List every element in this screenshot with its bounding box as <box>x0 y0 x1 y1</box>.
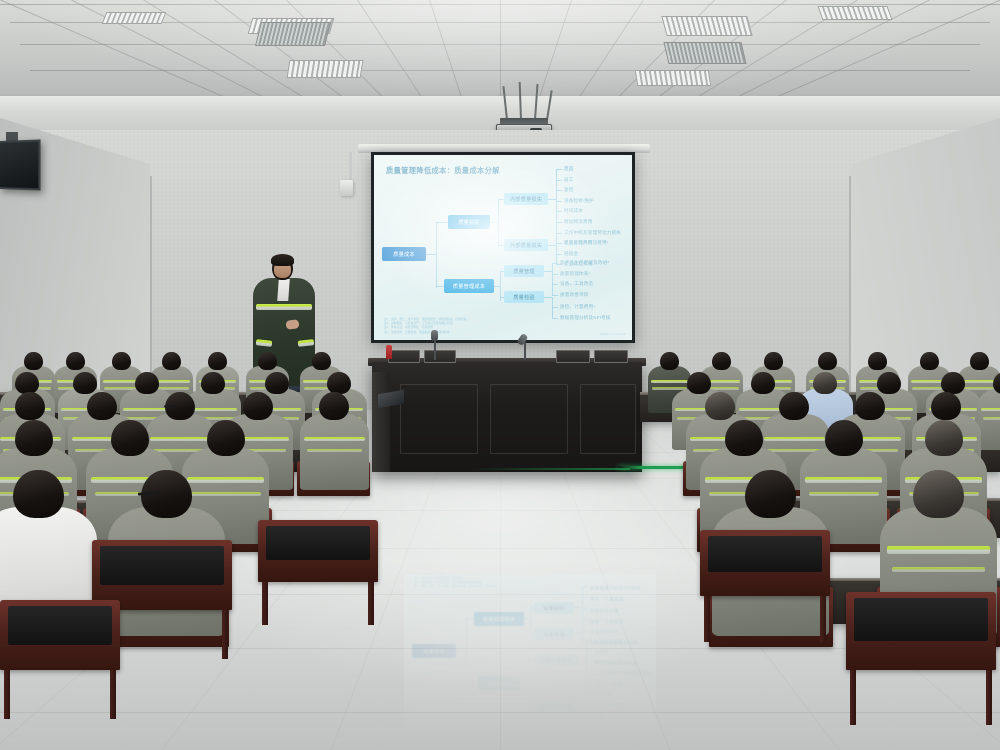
mindmap-node-quality-loss: 质量损失 <box>478 676 520 690</box>
audience-member-head <box>162 352 181 370</box>
desk-nameplate <box>556 350 590 363</box>
desk-nameplate <box>594 350 628 363</box>
ceiling-light-panel <box>287 60 364 78</box>
chair-seat <box>854 598 988 641</box>
mindmap-leaf: 废品 <box>564 166 574 172</box>
screen-power-cable <box>349 152 352 182</box>
mindmap-leaf: 质量改善项目 <box>560 292 588 298</box>
audience-member-head <box>751 372 775 394</box>
audience-member-head <box>243 392 273 420</box>
audience-member-head <box>913 470 964 518</box>
mindmap-node-quality-inspection: 质量检验 <box>534 602 574 614</box>
chair-seat <box>8 606 112 645</box>
slide-title: 质量管理降低成本：质量成本分解 <box>386 166 500 176</box>
reflective-stripe <box>981 408 1000 412</box>
reflective-stripe <box>307 449 362 452</box>
mindmap-node-quality-inspection: 质量检验 <box>504 291 544 303</box>
mindmap-leaf: 复检 <box>594 712 604 718</box>
reflective-stripe <box>191 492 261 496</box>
reflective-stripe <box>887 546 990 554</box>
ceiling-vent <box>255 22 331 46</box>
chair-leg <box>368 582 374 625</box>
audience-member-head <box>825 420 863 456</box>
presenter-hair <box>271 254 294 266</box>
desk-panel <box>580 384 636 454</box>
mindmap-leaf: 工作中断及管理劳动力损失 <box>564 230 621 236</box>
audience-member-head <box>312 352 331 370</box>
mindmap-node-internal-loss: 内部质量损失 <box>504 193 548 205</box>
audience-member-head <box>970 352 989 370</box>
audience-member-head <box>877 372 901 394</box>
mindmap-leaf: 返工 <box>594 722 604 728</box>
audience-member-head <box>931 392 961 420</box>
chair-leg <box>704 596 710 642</box>
audience-member-head <box>207 420 245 456</box>
reflective-stripe <box>189 408 237 412</box>
desk-panel <box>490 384 568 454</box>
projection-screen: 质量管理降低成本：质量成本分解 质量成本 质量损失 质量管理成本 内部质量损失 … <box>374 155 632 340</box>
mindmap-node-quality-management: 质量管理 <box>504 265 544 277</box>
chair-leg <box>110 670 116 719</box>
mindmap-leaf: 质检、计量费用⁴ <box>560 304 595 310</box>
mindmap-leaf: 退货及客户抱怨费用¹ <box>594 659 638 665</box>
audience-member-head <box>712 352 731 370</box>
chair-seat <box>708 536 822 572</box>
reflective-stripe <box>805 477 882 483</box>
mindmap-leaf: 赔偿金 <box>564 251 578 257</box>
audience-member-head <box>764 352 783 370</box>
mindmap-leaf: 附加物流费用 <box>594 680 622 686</box>
microphone-stand <box>524 342 526 360</box>
projection-screen: 质量管理降低成本：质量成本分解 质量成本 质量损失 质量管理成本 内部质量损失 … <box>404 574 656 750</box>
audience-member-head <box>87 392 117 420</box>
mindmap-leaf: 工作中断及管理劳动力损失 <box>594 669 651 675</box>
mindmap-leaf: 废品 <box>594 733 604 739</box>
ceiling-light-panel <box>817 6 892 20</box>
audience-member-head <box>73 372 97 394</box>
audience-member-head <box>13 470 64 518</box>
projection-screen-frame: 质量管理降低成本：质量成本分解 质量成本 质量损失 质量管理成本 内部质量损失 … <box>371 152 635 343</box>
mindmap-leaf: 设备检修/维护 <box>564 198 594 204</box>
desk-nameplate <box>388 350 420 363</box>
mindmap-leaf: 时间成本 <box>564 208 583 214</box>
mindmap-leaf: 新产品生产定型及改进² <box>590 639 639 645</box>
microphone-head <box>431 330 438 341</box>
mindmap-leaf: 设备、工具改造 <box>560 281 593 287</box>
chair-leg <box>262 582 268 625</box>
reflective-stripe <box>187 477 264 483</box>
reflective-stripe <box>123 408 171 412</box>
slide-watermark: Williams & Connolly <box>599 332 626 336</box>
mindmap-node-quality-management: 质量管理 <box>534 628 574 640</box>
ceiling-light-panel <box>661 16 752 36</box>
desk-panel <box>400 384 478 454</box>
chair-leg <box>222 610 228 659</box>
reflective-stripe <box>304 437 364 442</box>
reflective-stripe <box>652 387 686 389</box>
audience-member-head <box>66 352 85 370</box>
audience-member-head <box>779 392 809 420</box>
mindmap-leaf: 赔偿金 <box>594 648 608 654</box>
mindmap-leaf: 附加物流费用 <box>564 219 592 225</box>
reflective-stripe <box>809 492 879 496</box>
mindmap-leaf: 时间成本 <box>594 691 613 697</box>
audience-member-head <box>15 372 39 394</box>
audience-member-head <box>813 372 837 394</box>
audience-member-head <box>265 372 289 394</box>
audience-member-head <box>208 352 227 370</box>
mindmap-node-external-loss: 外部质量损失 <box>534 654 578 666</box>
mindmap-node-management-cost: 质量管理成本 <box>474 612 524 626</box>
chair-leg <box>850 670 856 725</box>
audience-member-head <box>24 352 43 370</box>
slide-footnote: 注3：体系认证、内外部审核、培训费用 <box>414 576 463 580</box>
audience-member-head <box>112 352 131 370</box>
microphone-stand <box>434 338 436 360</box>
mindmap-leaf: 质量改善项目 <box>590 607 618 613</box>
wall-monitor <box>0 139 41 190</box>
mindmap-node-quality-loss: 质量损失 <box>448 215 490 229</box>
audience-member-head <box>111 420 149 456</box>
ceiling-light-panel <box>102 12 167 24</box>
audience-member-head <box>15 392 45 420</box>
mindmap-leaf: 返工 <box>564 177 574 183</box>
presenter-reflective-stripe <box>256 304 312 310</box>
mindmap-leaf: 质量管理体系³ <box>560 271 590 277</box>
mindmap-node-internal-loss: 内部质量损失 <box>534 700 578 712</box>
audience-member-head <box>705 392 735 420</box>
wall-power-outlet <box>340 180 353 196</box>
audience-member-head <box>925 420 963 456</box>
chair-leg <box>820 596 826 642</box>
audience-member-head <box>725 420 763 456</box>
mindmap-leaf: 退货及客户抱怨费用¹ <box>564 240 608 246</box>
audience-member-head <box>319 392 349 420</box>
training-room-photo: 质量管理降低成本：质量成本分解 质量成本 质量损失 质量管理成本 内部质量损失 … <box>0 0 1000 750</box>
reflective-stripe <box>150 437 210 442</box>
audience-member-head <box>135 372 159 394</box>
reflective-stripe <box>651 380 689 383</box>
mindmap-leaf: 新产品生产定型及改进² <box>560 260 609 266</box>
chair-seat <box>100 546 224 585</box>
slide-footnote: 注2：试制费用、小批量试产、工艺验证及首件确认费用 <box>414 580 483 584</box>
audience-member-head <box>745 470 796 518</box>
desk-side-panel <box>372 372 390 472</box>
reflective-stripe <box>764 437 824 442</box>
ceiling-light-panel <box>635 70 712 86</box>
mindmap-leaf: 设备、工具改造 <box>590 618 623 624</box>
chair-leg <box>4 670 10 719</box>
audience-member-head <box>201 372 225 394</box>
slide-footnote: 注4：进货检验、过程检验、成品检验、计量器具校准 <box>384 330 450 334</box>
chair-leg <box>986 670 992 725</box>
mindmap-node-management-cost: 质量管理成本 <box>444 279 494 293</box>
slide-title: 质量管理降低成本：质量成本分解 <box>416 729 530 739</box>
green-laser-line-left <box>470 468 630 470</box>
presenter-desk <box>372 362 642 472</box>
audience-member-head <box>868 352 887 370</box>
audience-member-head <box>327 372 351 394</box>
mindmap-root-node: 质量成本 <box>412 644 456 658</box>
presenter-shirt-collar <box>277 279 290 301</box>
ceiling-vent <box>663 42 746 64</box>
reflective-stripe <box>892 567 986 573</box>
mindmap-leaf: 复检 <box>564 187 574 193</box>
audience-member-head <box>920 352 939 370</box>
mindmap-node-external-loss: 外部质量损失 <box>504 239 548 251</box>
floor-screen-reflection: 质量管理降低成本：质量成本分解 质量成本 质量损失 质量管理成本 内部质量损失 … <box>404 574 656 750</box>
mindmap-leaf: 质量管理体系³ <box>590 628 620 634</box>
slide-footnote: 注4：进货检验、过程检验、成品检验、计量器具校准 <box>414 574 480 575</box>
desk-nameplate <box>424 350 456 363</box>
reflective-stripe <box>983 417 1000 420</box>
mindmap-leaf: 数据管理分析及KPI考核 <box>590 584 641 590</box>
mindmap-leaf: 设备检修/维护 <box>594 701 624 707</box>
audience-member-head <box>660 352 679 370</box>
slide-footnote: 注1：退货、折让、客户索赔、保修维修费、销售额损失、信誉损失 <box>414 584 497 588</box>
wall-corner-line <box>849 176 851 406</box>
audience-member-head <box>818 352 837 370</box>
audience-member-head <box>855 392 885 420</box>
desk-small-object <box>386 345 392 359</box>
chair-seat <box>266 526 370 560</box>
audience-member-head <box>15 420 53 456</box>
audience-member-head <box>687 372 711 394</box>
mindmap-root-node: 质量成本 <box>382 247 426 261</box>
mindmap-leaf: 质检、计量费用⁴ <box>590 595 625 601</box>
mindmap-leaf: 数据管理分析及KPI考核 <box>560 315 611 321</box>
audience-member-head <box>258 352 277 370</box>
